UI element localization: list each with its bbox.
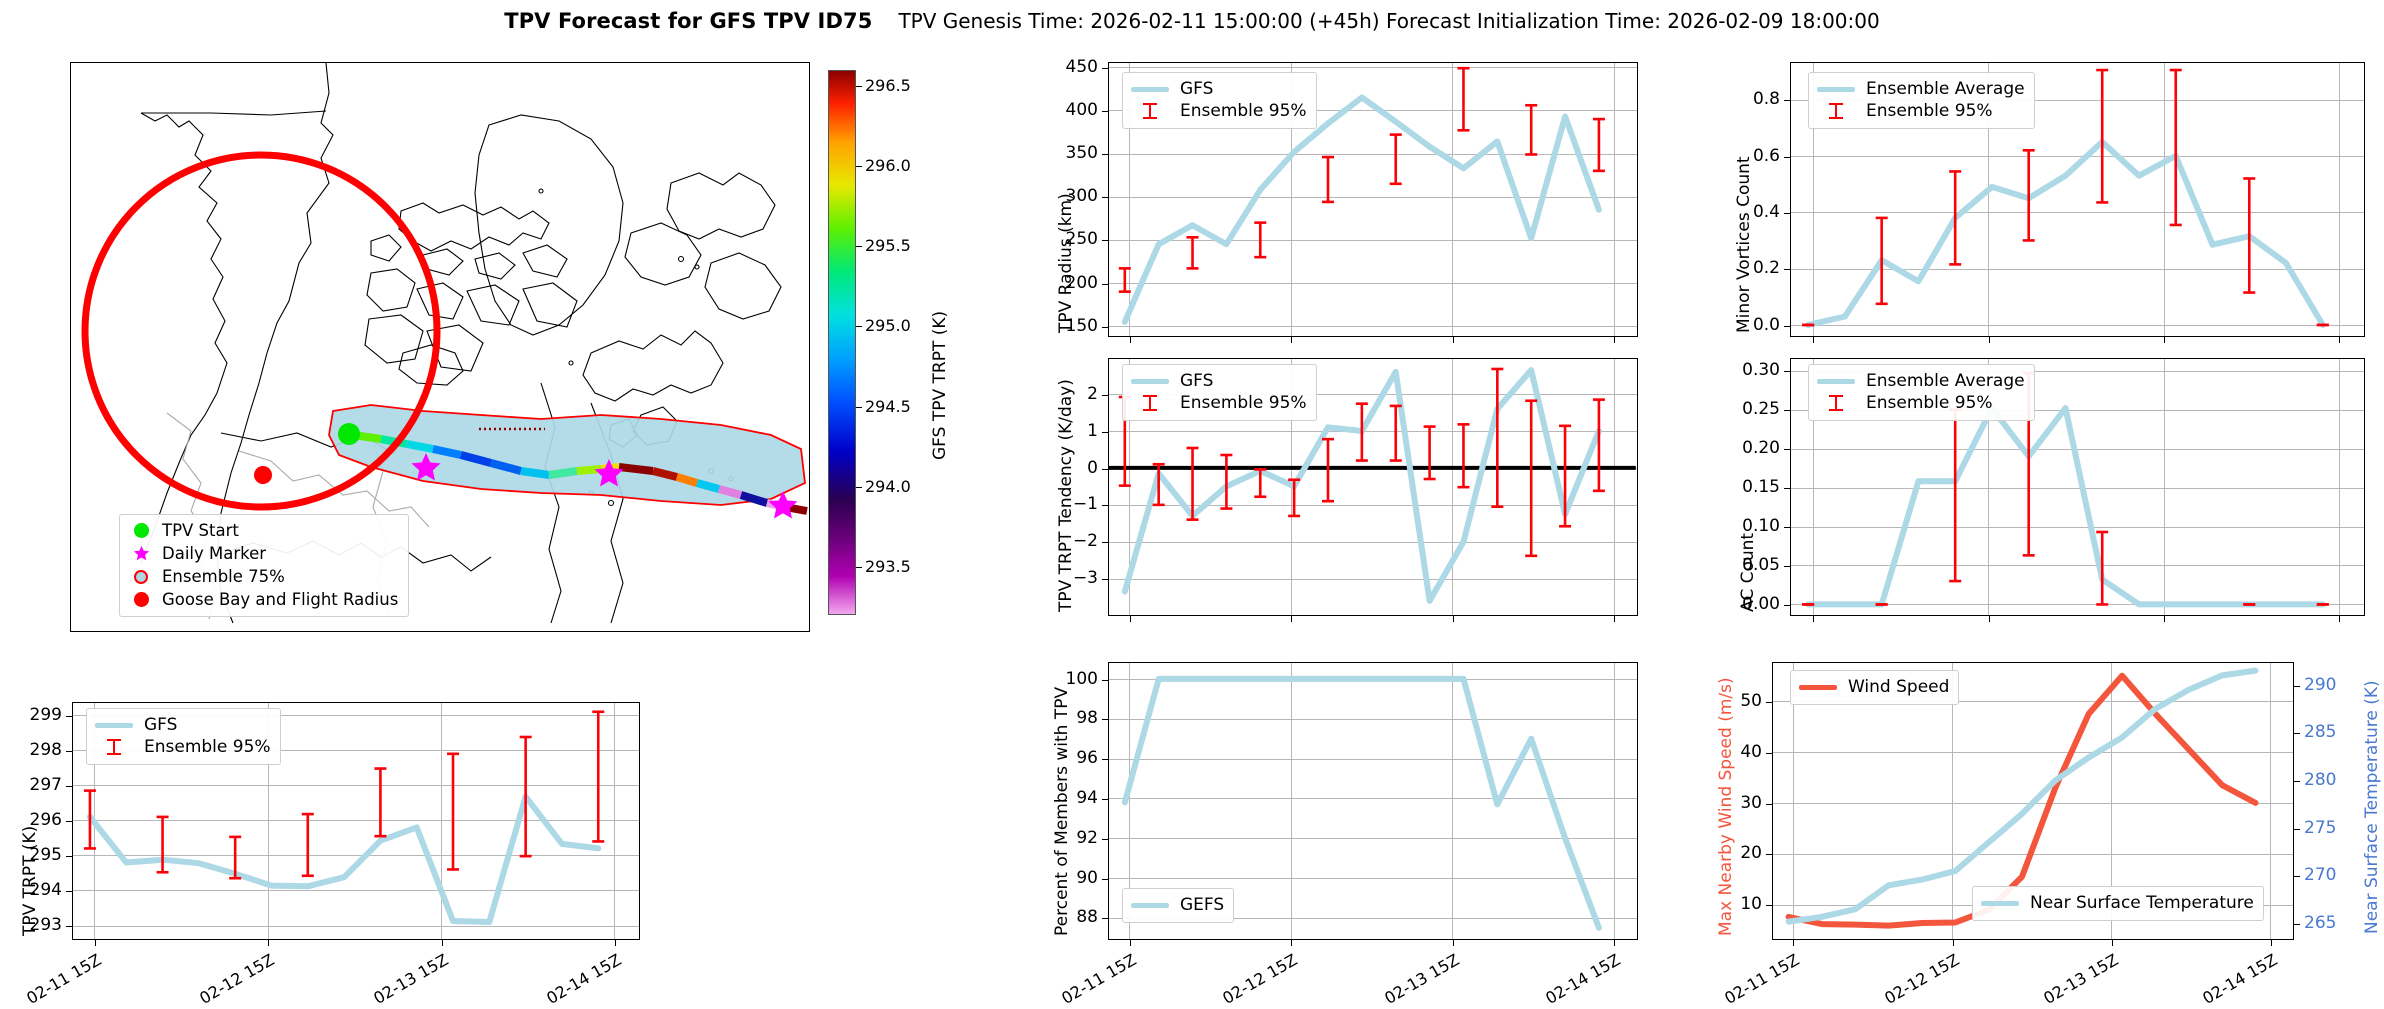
y-tickmark [66,926,72,927]
y-tickmark [1102,68,1108,69]
y-tickmark [66,751,72,752]
x-tick-label: 02-13 15Z [2037,950,2121,1009]
line-swatch-icon [1817,87,1855,92]
y-tickmark [66,786,72,787]
map-legend-label: Goose Bay and Flight Radius [162,590,398,609]
colorbar-tick-label: 296.0 [865,156,911,175]
y-tick-label-right: 275 [2304,818,2350,838]
y-tickmark-right [2294,924,2300,925]
colorbar-label: GFS TPV TRPT (K) [930,311,950,460]
series-line [1125,98,1599,322]
y-tickmark [1784,326,1790,327]
y-tick-label-right: 280 [2304,770,2350,790]
x-tick-label: 02-12 15Z [194,950,278,1009]
colorbar-tick-label: 295.5 [865,236,911,255]
y-tick-label: 0.25 [1702,399,1780,419]
colorbar-tickmark [856,166,862,167]
y-tickmark [1784,410,1790,411]
x-tick-label: 02-14 15Z [540,950,624,1009]
x-tick-label: 02-13 15Z [367,950,451,1009]
chart-panel-wind_temp: 1020304050265270275280285290Near Surface… [1660,640,2384,982]
legend-label: Wind Speed [1848,677,1949,697]
y-tick-label: 400 [1020,100,1098,120]
y-tickmark [1766,753,1772,754]
legend-item: Ensemble 95% [1131,392,1307,414]
y-tickmark [1102,579,1108,580]
tpv-start-point [338,423,360,445]
y-tickmark [1784,488,1790,489]
map-legend-item-daily-marker: Daily Marker [128,542,398,565]
tpv-start-icon [128,523,154,538]
y-tickmark [1102,240,1108,241]
x-tick-label: 02-12 15Z [1878,950,1962,1009]
y-axis-label: Max Nearby Wind Speed (m/s) [1716,677,1736,936]
page-header: TPV Forecast for GFS TPV ID75 TPV Genesi… [0,4,2384,38]
y-tickmark-right [2294,686,2300,687]
y-tickmark [1766,804,1772,805]
x-tickmark [1813,337,1814,343]
legend-item: Ensemble 95% [1817,100,2025,122]
errorbar [2170,70,2182,225]
y-axis-label: TPV TRPT (K) [20,826,40,936]
legend-item: GEFS [1131,894,1224,916]
line-swatch-icon [1799,685,1837,690]
chart-panel-minor_vortices: 0.00.20.40.60.8Minor Vortices CountEnsem… [1660,40,2384,340]
colorbar-tickmark [856,326,862,327]
x-tick-label: 02-13 15Z [1379,950,1463,1009]
y-tickmark [1784,100,1790,101]
y-tickmark [1766,905,1772,906]
chart-legend[interactable]: GFSEnsemble 95% [86,708,281,765]
line-swatch-icon [1981,901,2019,906]
errorbar [1525,401,1537,556]
colorbar-tick-label: 294.5 [865,397,911,416]
errorbar [447,754,459,870]
x-tickmark [2339,616,2340,622]
map-legend-label: Daily Marker [162,544,266,563]
colorbar-tickmark [856,246,862,247]
y-tickmark [1102,799,1108,800]
map-legend-label: TPV Start [162,521,239,540]
y-tick-label: 100 [1020,669,1098,689]
legend-item: Ensemble Average [1817,78,2025,100]
y-tickmark [66,821,72,822]
y-tick-label: 297 [0,775,62,795]
colorbar-tick-label: 294.0 [865,477,911,496]
page-title: TPV Forecast for GFS TPV ID75 [504,9,872,33]
x-tickmark [1953,940,1954,946]
legend-item: Ensemble 95% [95,736,271,758]
y-tickmark [1102,197,1108,198]
line-swatch-icon [1817,379,1855,384]
map-legend-item-goose-bay: Goose Bay and Flight Radius [128,588,398,611]
flight-radius-circle [85,155,437,507]
x-tick-label: 02-14 15Z [1540,950,1624,1009]
x-tickmark [1453,940,1454,946]
errorbar [1457,68,1469,130]
forecast-track-map[interactable]: TPV Start Daily Marker Ensemble 75% Goos… [70,62,810,632]
errorbar [1949,410,1961,581]
legend-item: GFS [95,714,271,736]
colorbar-tickmark [856,567,862,568]
legend-item: Ensemble 95% [1817,392,2025,414]
goose-bay-icon [128,592,154,607]
legend-item: GFS [1131,370,1307,392]
chart-panel-tpv_radius: 150200250300350400450TPV Radius (km)GFSE… [1000,40,1660,340]
y-tickmark [66,716,72,717]
errorbar [1322,157,1334,202]
legend-item: Wind Speed [1799,676,1949,698]
y-tick-label: 0.15 [1702,477,1780,497]
y-tickmark [1102,469,1108,470]
y-tickmark [1102,719,1108,720]
y-tickmark-right [2294,733,2300,734]
chart-legend[interactable]: GEFS [1122,888,1234,923]
x-tickmark [1989,616,1990,622]
y-tickmark [1784,566,1790,567]
legend-label: GFS [1180,79,1213,99]
goose-bay-point [254,466,272,484]
legend-label: Ensemble Average [1866,79,2025,99]
y-tick-label-right: 270 [2304,865,2350,885]
errorbar [1254,223,1266,258]
x-tickmark [1989,337,1990,343]
x-tickmark [1130,337,1131,343]
line-swatch-icon [95,723,133,728]
x-tickmark [2164,337,2165,343]
x-tick-label: 02-14 15Z [2196,950,2280,1009]
line-swatch-icon [1131,379,1169,384]
x-tick-label: 02-11 15Z [21,950,105,1009]
y-tickmark [1102,505,1108,506]
x-tick-label: 02-12 15Z [1217,950,1301,1009]
errorbar [1322,439,1334,501]
y-tickmark [1784,157,1790,158]
y-tick-label: 0.8 [1702,89,1780,109]
page-subtitle: TPV Genesis Time: 2026-02-11 15:00:00 (+… [898,9,1879,33]
errorbar-icon [1131,102,1169,120]
chart-legend[interactable]: Wind Speed [1790,670,1959,705]
y-tickmark [1102,395,1108,396]
y-tickmark [1766,702,1772,703]
errorbar-icon [1817,394,1855,412]
y-tick-label-right: 290 [2304,675,2350,695]
y-tickmark [1102,327,1108,328]
trpt-colorbar[interactable] [828,70,856,615]
legend-label: Ensemble 95% [1180,101,1307,121]
chart-panel-tpv_trpt: 293294295296297298299TPV TRPT (K)02-11 1… [0,640,700,982]
y-tick-label: 299 [0,705,62,725]
x-tickmark [1130,616,1131,622]
y-axis-label: AC Count [1738,533,1758,612]
y-tickmark [1102,918,1108,919]
map-legend-label: Ensemble 75% [162,567,285,586]
legend-item: Ensemble 95% [1131,100,1307,122]
chart-legend[interactable]: GFSEnsemble 95% [1122,72,1317,129]
y-axis-label: TPV Radius (km) [1056,193,1076,333]
x-tickmark [2164,616,2165,622]
errorbar [2096,70,2108,202]
y-tickmark [1102,879,1108,880]
y-tickmark [1102,759,1108,760]
colorbar-tickmark [856,487,862,488]
y-tick-label-right: 265 [2304,913,2350,933]
legend-label: Ensemble 95% [144,737,271,757]
y-tick-label: 0.20 [1702,438,1780,458]
y-tick-label: 298 [0,740,62,760]
errorbar [1457,424,1469,487]
legend-item: Ensemble Average [1817,370,2025,392]
star-icon [128,545,154,562]
y-tick-label-right: 285 [2304,722,2350,742]
x-tickmark [1614,616,1615,622]
errorbar-icon [1131,394,1169,412]
y-tick-label: 0.30 [1702,360,1780,380]
y-tickmark [1102,680,1108,681]
x-tickmark [1453,337,1454,343]
x-tick-label: 02-11 15Z [1055,950,1139,1009]
y-tickmark-right [2294,876,2300,877]
y-tickmark [1102,284,1108,285]
legend-item: Near Surface Temperature [1981,892,2254,914]
y-tickmark [1784,605,1790,606]
y-tickmark [1784,449,1790,450]
errorbar-icon [95,738,133,756]
series-line [1808,408,2323,604]
errorbar [302,814,314,876]
x-tickmark [2339,337,2340,343]
x-tickmark [1614,940,1615,946]
errorbar [1424,427,1436,479]
y-tickmark [1102,154,1108,155]
errorbar [374,769,386,837]
ensemble-circle-icon [128,570,154,584]
y-tick-label: 450 [1020,57,1098,77]
legend-label: Ensemble 95% [1866,393,1993,413]
map-legend: TPV Start Daily Marker Ensemble 75% Goos… [119,514,409,617]
legend-label: Ensemble 95% [1180,393,1307,413]
line-swatch-icon [1131,903,1169,908]
legend-label: Ensemble 95% [1866,101,1993,121]
y-axis-label: TPV TRPT Tendency (K/day) [1056,379,1076,612]
y-tickmark [1766,854,1772,855]
legend-label: GFS [144,715,177,735]
errorbar [1187,237,1199,268]
map-panel: TPV Start Daily Marker Ensemble 75% Goos… [0,40,960,640]
chart-panel-percent_members: 889092949698100Percent of Members with T… [1000,640,1660,982]
x-tickmark [1291,940,1292,946]
line-swatch-icon [1131,87,1169,92]
x-tick-label: 02-11 15Z [1719,950,1803,1009]
y-tick-label: 350 [1020,143,1098,163]
legend-label: Ensemble Average [1866,371,2025,391]
legend-label: GFS [1180,371,1213,391]
y-tickmark [66,891,72,892]
chart-legend[interactable]: GFSEnsemble 95% [1122,364,1317,421]
x-tickmark [615,940,616,946]
x-tickmark [1453,616,1454,622]
x-tickmark [1291,337,1292,343]
series-line [90,797,598,922]
x-tickmark [1291,616,1292,622]
x-tickmark [1130,940,1131,946]
x-tickmark [2271,940,2272,946]
x-tickmark [1614,337,1615,343]
y-tickmark [1102,542,1108,543]
legend-label: GEFS [1180,895,1224,915]
map-legend-item-tpv-start: TPV Start [128,519,398,542]
map-legend-item-ensemble-75: Ensemble 75% [128,565,398,588]
chart-legend[interactable]: Ensemble AverageEnsemble 95% [1808,72,2035,129]
y-tickmark [1102,111,1108,112]
y-axis-label: Minor Vortices Count [1734,156,1754,333]
colorbar-tickmark [856,86,862,87]
errorbar [157,817,169,872]
series-line [1789,671,2256,922]
colorbar-tick-label: 296.5 [865,76,911,95]
errorbar [1491,369,1503,507]
colorbar-tick-label: 293.5 [865,557,911,576]
errorbar [520,737,532,856]
errorbar [1119,268,1131,291]
y-tickmark [1102,432,1108,433]
x-tickmark [268,940,269,946]
errorbar [1390,135,1402,184]
y-tickmark [66,856,72,857]
x-tickmark [442,940,443,946]
y-tickmark [1102,839,1108,840]
errorbar [592,712,604,842]
x-tickmark [95,940,96,946]
legend-item: GFS [1131,78,1307,100]
y-axis-label-right: Near Surface Temperature (K) [2362,680,2382,934]
chart-legend[interactable]: Near Surface Temperature [1972,886,2264,921]
errorbar [1593,119,1605,171]
x-tickmark [1793,940,1794,946]
y-tickmark-right [2294,829,2300,830]
chart-legend[interactable]: Ensemble AverageEnsemble 95% [1808,364,2035,421]
series-line [1808,142,2323,325]
errorbar [1525,105,1537,154]
x-tickmark [2112,940,2113,946]
y-tickmark [1784,371,1790,372]
chart-panel-ac_count: 0.000.050.100.150.200.250.30AC CountEnse… [1660,348,2384,633]
y-tickmark [1784,527,1790,528]
colorbar-tickmark [856,407,862,408]
y-tickmark-right [2294,781,2300,782]
chart-panel-tpv_trpt_tendency: −3−2−1012TPV TRPT Tendency (K/day)GFSEns… [1000,348,1660,633]
y-tickmark [1784,213,1790,214]
colorbar-tick-label: 295.0 [865,316,911,335]
legend-label: Near Surface Temperature [2030,893,2254,913]
y-tickmark [1784,269,1790,270]
y-axis-label: Percent of Members with TPV [1052,687,1072,936]
errorbar-icon [1817,102,1855,120]
x-tickmark [1813,616,1814,622]
